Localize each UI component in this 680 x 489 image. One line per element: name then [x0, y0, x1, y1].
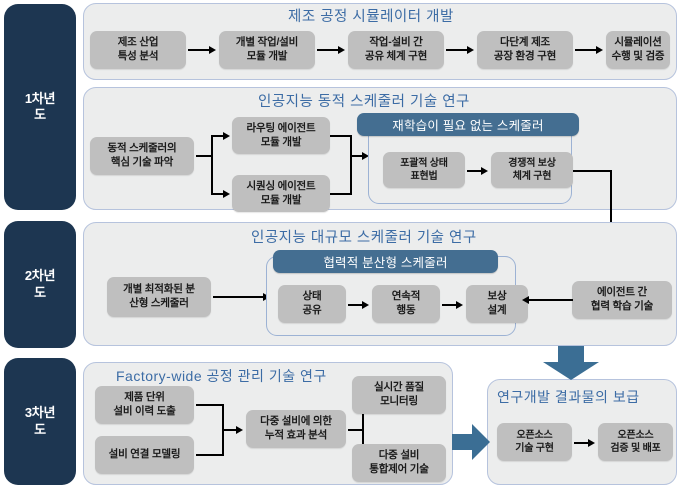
arrow-ds-bot: [223, 190, 230, 198]
arrow-sim-3: [467, 46, 474, 54]
arrow-ls-back: [522, 296, 529, 304]
connector-fw-top: [196, 404, 224, 406]
connector-ds-riser: [211, 135, 213, 195]
box-opensource-validation-distribution: 오픈소스 검증 및 배포: [598, 423, 673, 461]
arrow-ds-top: [223, 132, 230, 140]
year-chip-3: 3차년 도: [4, 358, 76, 485]
block-arrow-right-to-dissemination: [452, 424, 490, 460]
arrow-ls-3: [456, 301, 463, 309]
box-state-sharing: 상태 공유: [278, 285, 346, 323]
subpanel-cooperative-distributed-scheduler-header: 협력적 분산형 스케줄러: [273, 250, 498, 273]
connector-sim-4: [575, 49, 598, 51]
box-task-equipment-module: 개별 작업/설비 모듈 개발: [219, 31, 315, 69]
box-multistage-factory-env: 다단계 제조 공장 환경 구현: [477, 31, 573, 69]
box-task-equipment-sharing: 작업-설비 간 공유 체계 구현: [348, 31, 444, 69]
year-chip-2: 2차년 도: [4, 221, 76, 348]
box-manufacturing-industry-analysis: 제조 산업 특성 분석: [90, 31, 186, 69]
panel-dynamic-scheduler-title: 인공지능 동적 스케줄러 기술 연구: [258, 90, 470, 111]
connector-ls-1: [213, 296, 265, 298]
box-competitive-reward-system: 경쟁적 보상 체계 구현: [491, 152, 573, 188]
box-dynamic-scheduler-core-tech: 동적 스케줄러의 핵심 기술 파악: [90, 137, 194, 175]
year-2-label: 2차년 도: [25, 268, 55, 301]
connector-ds-merge-riser: [350, 135, 352, 195]
box-opensource-implementation: 오픈소스 기술 구현: [497, 423, 572, 461]
box-comprehensive-state-representation: 포괄적 상태 표현법: [383, 152, 465, 188]
roadmap-diagram: 1차년 도 2차년 도 3차년 도 제조 공정 시뮬레이터 개발 제조 산업 특…: [0, 0, 680, 489]
box-equipment-connection-modeling: 설비 연결 모델링: [95, 436, 194, 474]
connector-sim-3: [446, 49, 469, 51]
arrow-sim-2: [338, 46, 345, 54]
connector-sim-2: [317, 49, 340, 51]
connector-ds-merge-bot: [330, 193, 352, 195]
panel-large-scale-scheduler-title: 인공지능 대규모 스케줄러 기술 연구: [251, 226, 477, 247]
box-product-unit-equipment-history: 제품 단위 설비 이력 도출: [95, 386, 194, 424]
arrow-sub-ds: [481, 167, 488, 175]
connector-cross-year-h: [573, 170, 612, 172]
connector-sim-1: [188, 49, 211, 51]
subpanel-no-retraining-scheduler-header: 재학습이 필요 없는 스케줄러: [357, 113, 579, 136]
connector-ls-back: [527, 299, 573, 301]
year-1-label: 1차년 도: [25, 91, 55, 124]
panel-dissemination-title: 연구개발 결과물의 보급: [497, 387, 640, 407]
year-3-label: 3차년 도: [25, 405, 55, 438]
arrow-sim-1: [209, 46, 216, 54]
connector-ds-merge-top: [330, 135, 352, 137]
box-sequencing-agent-module: 시퀀싱 에이전트 모듈 개발: [232, 175, 330, 212]
arrow-ds-open: [588, 439, 595, 447]
panel-simulator-title: 제조 공정 시뮬레이터 개발: [288, 5, 454, 26]
box-reward-design: 보상 설계: [466, 285, 528, 323]
block-arrow-down-to-dissemination: [543, 346, 599, 380]
box-inter-agent-cooperative-learning: 에이전트 간 협력 학습 기술: [572, 281, 672, 319]
box-continuous-action: 연속적 행동: [372, 285, 440, 323]
arrow-fw-merge: [236, 426, 243, 434]
box-realtime-quality-monitoring: 실시간 품질 모니터링: [352, 376, 446, 414]
year-chip-1: 1차년 도: [4, 4, 76, 210]
box-routing-agent-module: 라우팅 에이전트 모듈 개발: [232, 117, 330, 154]
connector-fw-bot: [196, 454, 224, 456]
box-simulation-verification: 시뮬레이션 수행 및 검증: [606, 31, 670, 69]
box-individually-optimized-scheduler: 개별 최적화된 분 산형 스케줄러: [107, 277, 211, 317]
panel-factory-wide-title: Factory-wide 공정 관리 기술 연구: [116, 366, 327, 386]
arrow-ls-2: [362, 301, 369, 309]
box-cumulative-effect-analysis: 다중 설비에 의한 누적 효과 분석: [246, 410, 346, 448]
arrow-sim-4: [596, 46, 603, 54]
box-multi-equipment-integrated-control: 다중 설비 통합제어 기술: [352, 444, 446, 482]
